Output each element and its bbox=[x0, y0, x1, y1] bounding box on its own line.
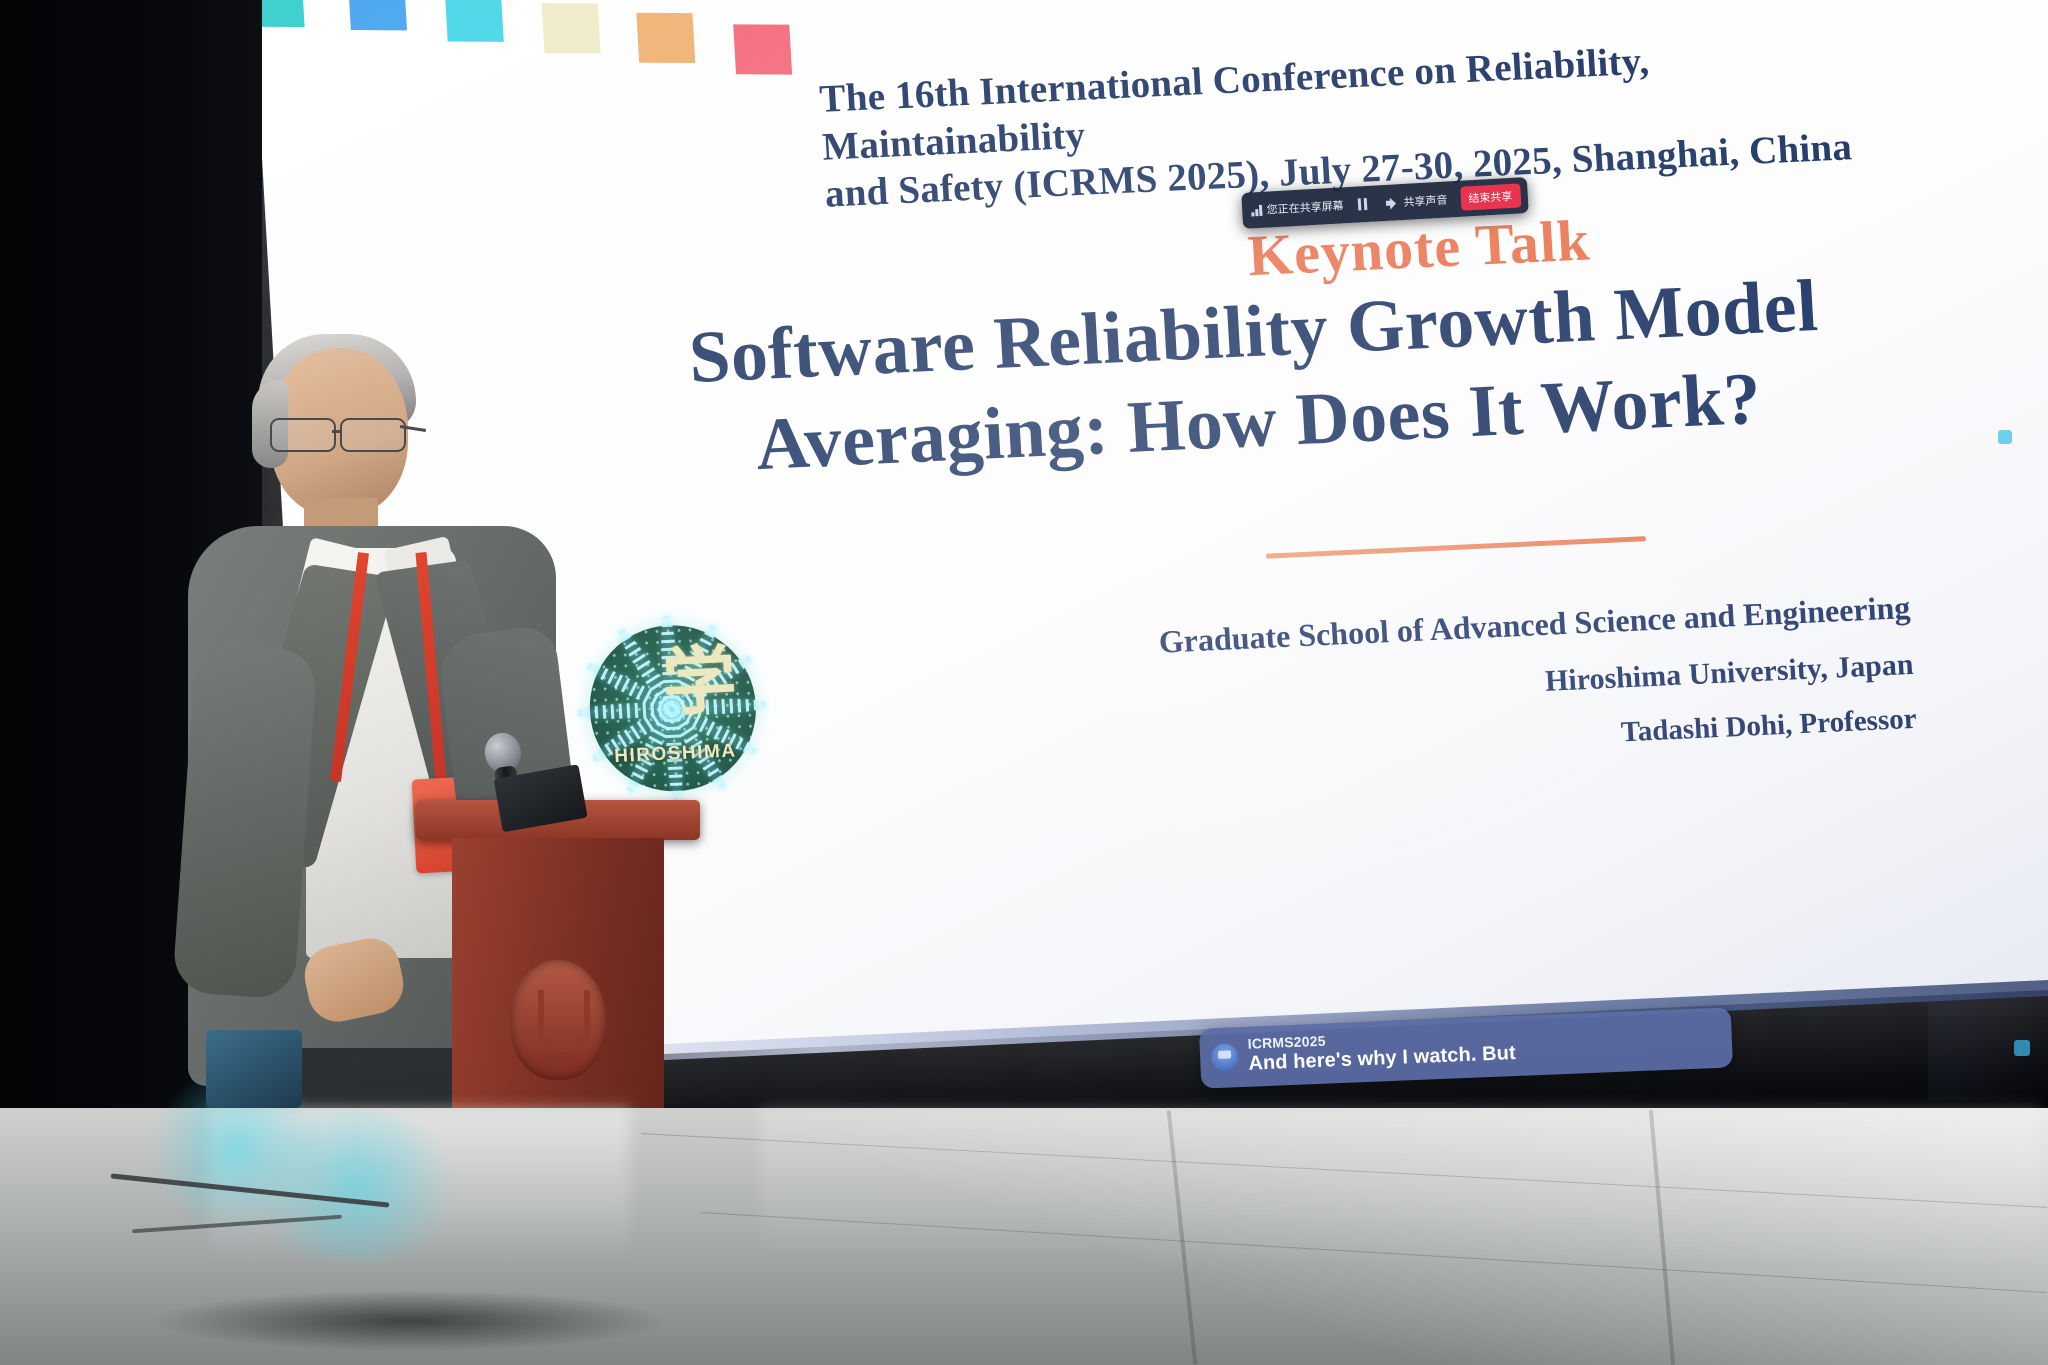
share-audio-button[interactable]: 共享声音 bbox=[1385, 192, 1448, 211]
screen-edge-accent-icon bbox=[1998, 430, 2012, 444]
speaker-icon bbox=[1385, 197, 1399, 209]
talk-title: Software Reliability Growth Model Averag… bbox=[602, 258, 1911, 497]
screen-edge-accent-icon bbox=[2014, 1040, 2030, 1056]
affiliation-block: Graduate School of Advanced Science and … bbox=[850, 578, 1918, 795]
emblem-kanji: 学 bbox=[656, 640, 743, 728]
title-divider-rule bbox=[1266, 536, 1646, 559]
eyeglasses-icon bbox=[264, 418, 420, 452]
stage-light-fixture bbox=[206, 1030, 302, 1108]
pause-icon bbox=[1356, 198, 1368, 211]
decor-square-coral bbox=[733, 24, 792, 74]
arm-left bbox=[172, 642, 318, 1000]
decor-square-cream bbox=[542, 3, 601, 53]
pause-share-button[interactable] bbox=[1356, 198, 1373, 211]
signal-bars-icon bbox=[1251, 204, 1262, 216]
share-audio-label: 共享声音 bbox=[1403, 192, 1448, 210]
decor-square-orange bbox=[636, 13, 695, 63]
sharing-status-label: 您正在共享屏幕 bbox=[1266, 197, 1344, 217]
presenter-shadow bbox=[150, 1290, 670, 1352]
floor-reflection bbox=[760, 1108, 2040, 1328]
stop-share-button[interactable]: 结束共享 bbox=[1460, 183, 1521, 210]
lectern-seal bbox=[510, 960, 606, 1080]
floor-uplight bbox=[236, 1112, 476, 1262]
photo-scene: The 16th International Conference on Rel… bbox=[0, 0, 2048, 1365]
sharing-status: 您正在共享屏幕 bbox=[1251, 197, 1344, 218]
decor-square-blue bbox=[348, 0, 407, 30]
decor-square-cyan bbox=[445, 0, 504, 42]
avatar bbox=[1211, 1043, 1239, 1071]
